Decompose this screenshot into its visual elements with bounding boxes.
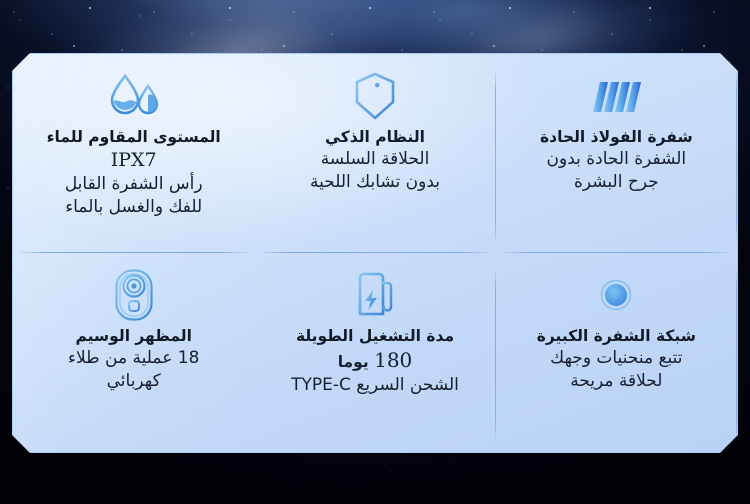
feature-description: 18 عملية من طلاء كهربائي — [68, 347, 199, 392]
feature-cell-long-battery-life: مدة التشغيل الطويلة 180 يوما الشحن السري… — [254, 253, 495, 452]
feature-title: مدة التشغيل الطويلة — [296, 327, 454, 346]
feature-description-line: لحلاقة مريحة — [550, 370, 682, 392]
feature-description: الحلاقة السلسة بدون تشابك اللحية — [310, 148, 440, 193]
feature-description-line: الحلاقة السلسة — [310, 148, 440, 170]
feature-description-line: بدون تشابك اللحية — [310, 171, 440, 193]
water-drops-icon — [106, 68, 162, 124]
waterproof-rating: IPX7 — [65, 148, 203, 173]
feature-description: تتبع منحنيات وجهك لحلاقة مريحة — [550, 347, 682, 392]
feature-description-line: رأس الشفرة القابل — [65, 173, 203, 195]
feature-cell-smart-system: النظام الذكي الحلاقة السلسة بدون تشابك ا… — [254, 54, 495, 253]
infographic-stage: شفرة الفولاذ الحادة الشفرة الحادة بدون ج… — [0, 0, 750, 504]
charging-station-icon — [353, 267, 397, 323]
feature-description-line: تتبع منحنيات وجهك — [550, 347, 682, 369]
battery-duration-unit: يوما — [338, 353, 369, 371]
feature-description: IPX7 رأس الشفرة القابل للفك والغسل بالما… — [65, 148, 203, 218]
radial-mesh-icon — [589, 267, 643, 323]
feature-title: شبكة الشفرة الكبيرة — [537, 327, 696, 346]
feature-description: 180 يوما الشحن السريع TYPE-C — [291, 347, 459, 396]
feature-description-line: للفك والغسل بالماء — [65, 196, 203, 218]
battery-duration: 180 يوما — [291, 347, 459, 373]
feature-title: المستوى المقاوم للماء — [47, 128, 221, 147]
hex-shield-icon — [352, 68, 398, 124]
feature-title: شفرة الفولاذ الحادة — [540, 128, 693, 147]
feature-description-line: الشحن السريع TYPE-C — [291, 374, 459, 396]
feature-cell-handsome-appearance: المظهر الوسيم 18 عملية من طلاء كهربائي — [13, 253, 254, 452]
battery-duration-value: 180 — [374, 348, 412, 372]
shaver-device-icon — [114, 267, 154, 323]
features-panel: شفرة الفولاذ الحادة الشفرة الحادة بدون ج… — [12, 53, 738, 453]
feature-description-line: جرح البشرة — [547, 171, 687, 193]
feature-cell-waterproof-level: المستوى المقاوم للماء IPX7 رأس الشفرة ال… — [13, 54, 254, 253]
feature-description-line: كهربائي — [68, 370, 199, 392]
feature-title: المظهر الوسيم — [75, 327, 191, 346]
feature-description: الشفرة الحادة بدون جرح البشرة — [547, 148, 687, 193]
feature-cell-sharp-steel-blade: شفرة الفولاذ الحادة الشفرة الحادة بدون ج… — [496, 54, 737, 253]
feature-description-line: 18 عملية من طلاء — [68, 347, 199, 369]
feature-cell-large-blade-mesh: شبكة الشفرة الكبيرة تتبع منحنيات وجهك لح… — [496, 253, 737, 452]
blade-stripes-icon — [590, 68, 642, 124]
feature-description-line: الشفرة الحادة بدون — [547, 148, 687, 170]
feature-title: النظام الذكي — [325, 128, 425, 147]
